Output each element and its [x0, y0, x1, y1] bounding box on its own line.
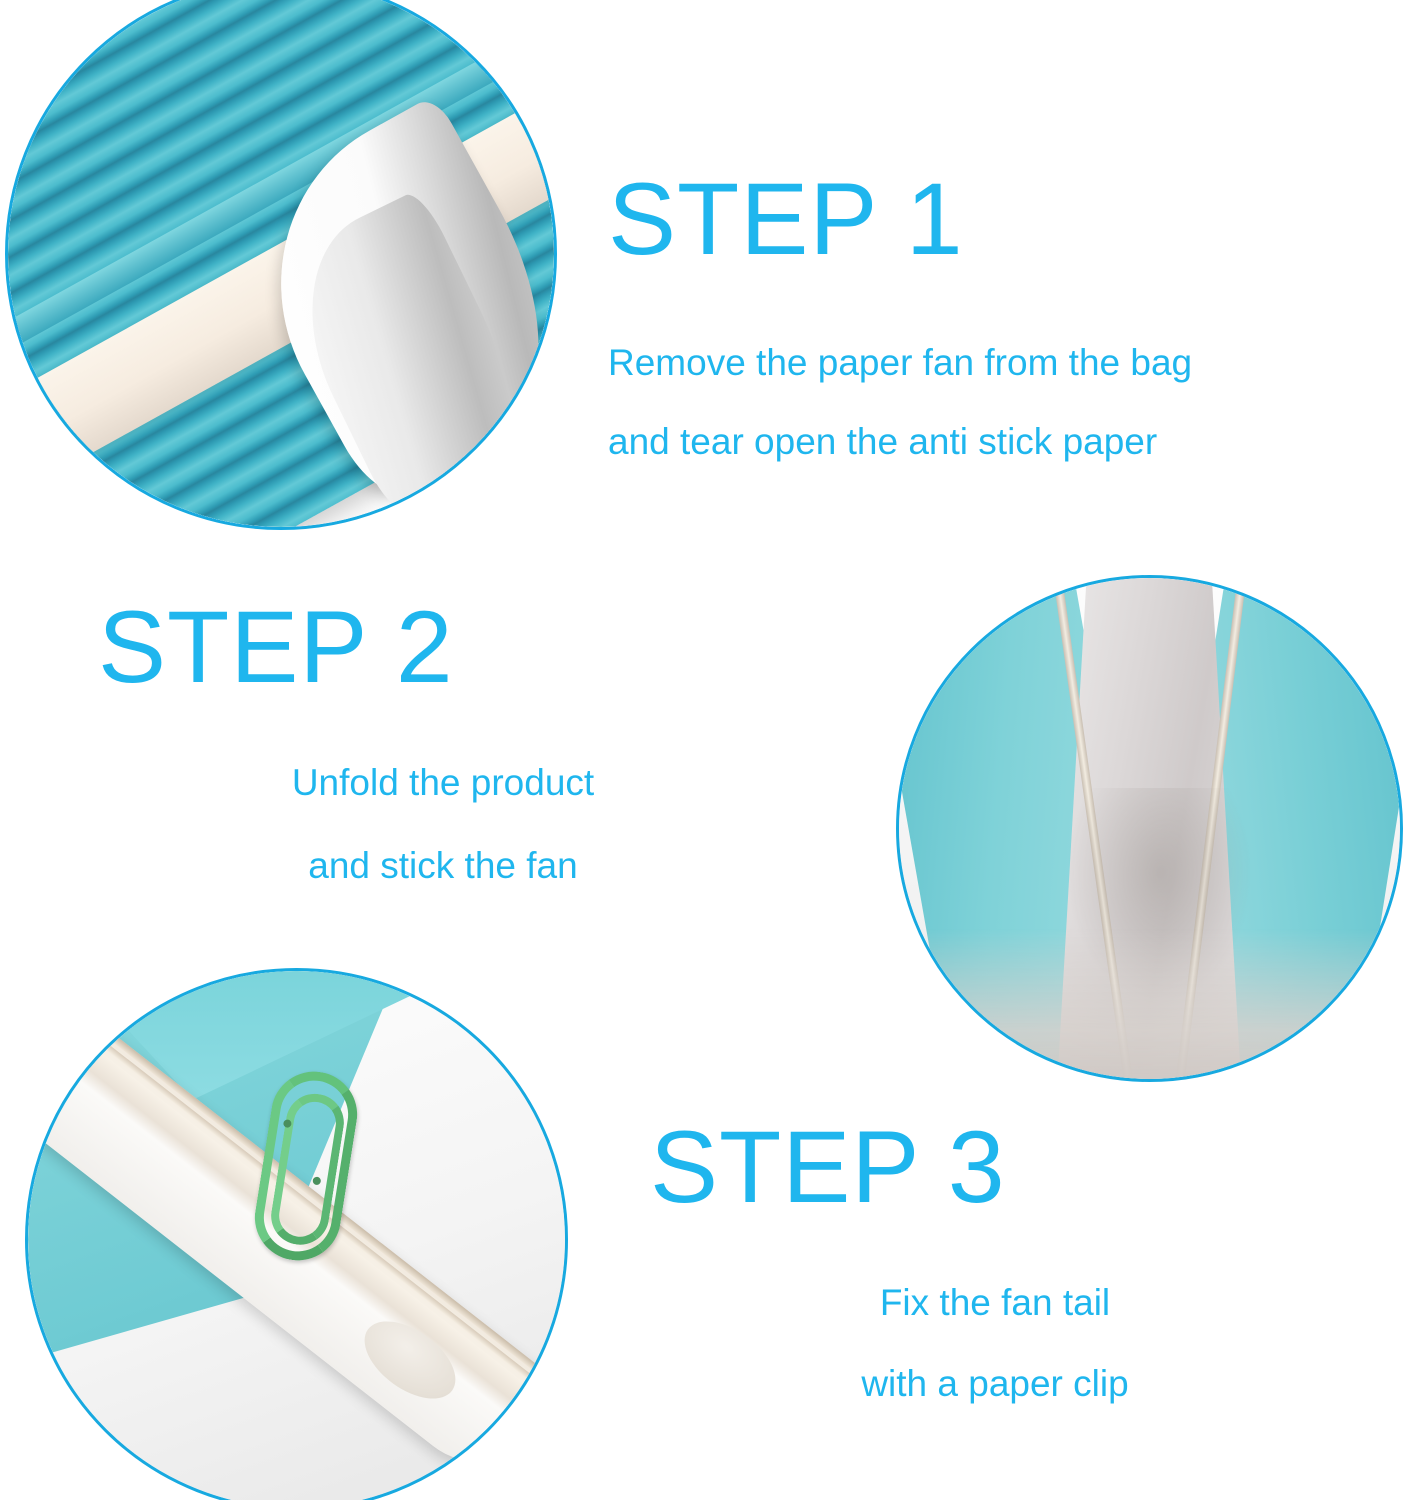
step-2-line-2: and stick the fan [98, 847, 788, 884]
step-2-line-1: Unfold the product [98, 764, 788, 801]
step-3-photo [25, 968, 568, 1500]
step-3-line-2: with a paper clip [650, 1365, 1340, 1402]
step-2-text-block: STEP 2 Unfold the product and stick the … [98, 596, 788, 884]
step-3-description: Fix the fan tail with a paper clip [650, 1284, 1340, 1402]
step-3-title: STEP 3 [650, 1116, 1340, 1218]
step-2-photo-inner [899, 578, 1400, 1079]
step-2-description: Unfold the product and stick the fan [98, 764, 788, 884]
step-3-line-1: Fix the fan tail [650, 1284, 1340, 1321]
instruction-infographic: STEP 1 Remove the paper fan from the bag… [0, 0, 1418, 1500]
step-1-line-1: Remove the paper fan from the bag [608, 344, 1192, 381]
lower-surface-shadow [899, 929, 1400, 1079]
step-1-text-block: STEP 1 Remove the paper fan from the bag… [608, 168, 1192, 460]
step-1-photo [5, 0, 557, 530]
step-3-photo-inner [28, 971, 565, 1500]
step-2-title: STEP 2 [98, 596, 788, 698]
step-2-photo [896, 575, 1403, 1082]
step-1-title: STEP 1 [608, 168, 1192, 270]
step-1-description: Remove the paper fan from the bag and te… [608, 344, 1192, 460]
step-1-line-2: and tear open the anti stick paper [608, 423, 1192, 460]
step-1-photo-inner [8, 0, 554, 527]
step-3-text-block: STEP 3 Fix the fan tail with a paper cli… [650, 1116, 1340, 1402]
